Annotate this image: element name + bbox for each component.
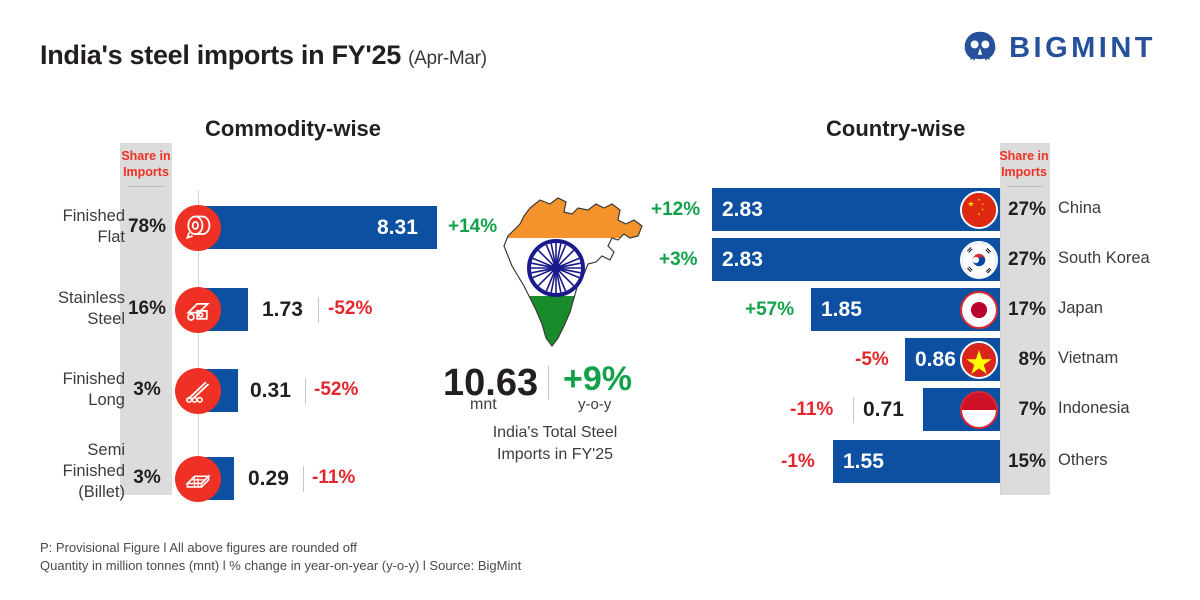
commodity-label-stainless-steel: Stainless Steel	[15, 288, 125, 330]
stainless-bars-icon	[175, 287, 221, 333]
long-rods-icon	[175, 368, 221, 414]
value-change-divider	[303, 466, 304, 492]
country-change-vietnam: -5%	[855, 349, 889, 371]
commodity-change-semi-finished-billet: -11%	[312, 467, 355, 489]
value-change-divider	[318, 297, 319, 323]
total-change-unit: y-o-y	[578, 396, 611, 413]
bigmint-wordmark: BIGMINT	[1009, 32, 1156, 65]
footer-note-2: Quantity in million tonnes (mnt) l % cha…	[40, 558, 521, 573]
country-label-china: China	[1058, 199, 1101, 218]
commodity-share-stainless-steel: 16%	[126, 298, 168, 320]
commodity-value-finished-long: 0.31	[250, 379, 291, 403]
country-share-others: 15%	[1002, 451, 1046, 473]
steel-coil-icon	[175, 205, 221, 251]
share-header-divider	[128, 186, 164, 187]
ashoka-chakra-icon	[529, 241, 583, 295]
page-title-main: India's steel imports in FY'25	[40, 40, 401, 70]
bigmint-mark-icon	[962, 30, 998, 66]
commodity-value-finished-flat: 8.31	[377, 216, 418, 240]
share-header-line-1: Share in	[999, 148, 1049, 164]
total-caption: India's Total Steel Imports in FY'25	[440, 422, 670, 466]
country-share-header: Share in Imports	[999, 148, 1049, 180]
country-value-china: 2.83	[722, 198, 763, 222]
country-share-indonesia: 7%	[1002, 399, 1046, 421]
country-change-japan: +57%	[745, 299, 794, 321]
share-header-divider	[1007, 186, 1043, 187]
value-change-divider	[853, 397, 854, 423]
infographic-canvas: India's steel imports in FY'25 (Apr-Mar)…	[0, 0, 1200, 600]
total-change-value: +9%	[563, 360, 632, 399]
china-flag-icon	[960, 191, 998, 229]
indonesia-flag-icon	[960, 391, 998, 429]
country-change-indonesia: -11%	[790, 399, 833, 421]
country-value-indonesia: 0.71	[863, 398, 904, 422]
commodity-change-finished-long: -52%	[314, 379, 358, 401]
japan-flag-icon	[960, 291, 998, 329]
country-value-south-korea: 2.83	[722, 248, 763, 272]
country-change-south-korea: +3%	[659, 249, 698, 271]
country-label-others: Others	[1058, 451, 1108, 470]
share-header-line-1: Share in	[120, 148, 172, 164]
total-divider	[548, 366, 549, 400]
commodity-label-finished-long: Finished Long	[15, 369, 125, 411]
country-share-vietnam: 8%	[1002, 349, 1046, 371]
value-change-divider	[305, 378, 306, 404]
country-value-vietnam: 0.86	[915, 348, 956, 372]
commodity-label-semi-finished-billet: Semi Finished (Billet)	[15, 440, 125, 503]
commodity-change-finished-flat: +14%	[448, 216, 497, 238]
country-value-japan: 1.85	[821, 298, 862, 322]
commodity-share-semi-finished-billet: 3%	[126, 467, 168, 489]
footer-note-1: P: Provisional Figure l All above figure…	[40, 540, 357, 555]
share-header-line-2: Imports	[120, 164, 172, 180]
country-change-others: -1%	[781, 451, 815, 473]
country-section-heading: Country-wise	[826, 116, 965, 142]
commodity-share-finished-flat: 78%	[126, 216, 168, 238]
south-korea-flag-icon	[960, 241, 998, 279]
page-title: India's steel imports in FY'25 (Apr-Mar)	[40, 40, 487, 71]
country-label-vietnam: Vietnam	[1058, 349, 1118, 368]
vietnam-flag-icon	[960, 341, 998, 379]
commodity-change-stainless-steel: -52%	[328, 298, 372, 320]
country-label-japan: Japan	[1058, 299, 1103, 318]
country-change-china: +12%	[651, 199, 700, 221]
country-label-south-korea: South Korea	[1058, 249, 1150, 268]
commodity-value-semi-finished-billet: 0.29	[248, 467, 289, 491]
billet-stack-icon	[175, 456, 221, 502]
country-share-south-korea: 27%	[1002, 249, 1046, 271]
share-header-line-2: Imports	[999, 164, 1049, 180]
commodity-share-finished-long: 3%	[126, 379, 168, 401]
country-baseline	[1000, 190, 1001, 495]
country-share-japan: 17%	[1002, 299, 1046, 321]
page-title-sub: (Apr-Mar)	[408, 48, 487, 69]
commodity-share-header: Share in Imports	[120, 148, 172, 180]
total-imports-unit: mnt	[470, 396, 497, 414]
bigmint-logo: BIGMINT	[962, 30, 1156, 66]
commodity-value-stainless-steel: 1.73	[262, 298, 303, 322]
commodity-section-heading: Commodity-wise	[205, 116, 381, 142]
country-value-others: 1.55	[843, 450, 884, 474]
country-share-china: 27%	[1002, 199, 1046, 221]
india-map-icon	[492, 180, 652, 355]
country-label-indonesia: Indonesia	[1058, 399, 1130, 418]
commodity-label-finished-flat: Finished Flat	[15, 206, 125, 248]
